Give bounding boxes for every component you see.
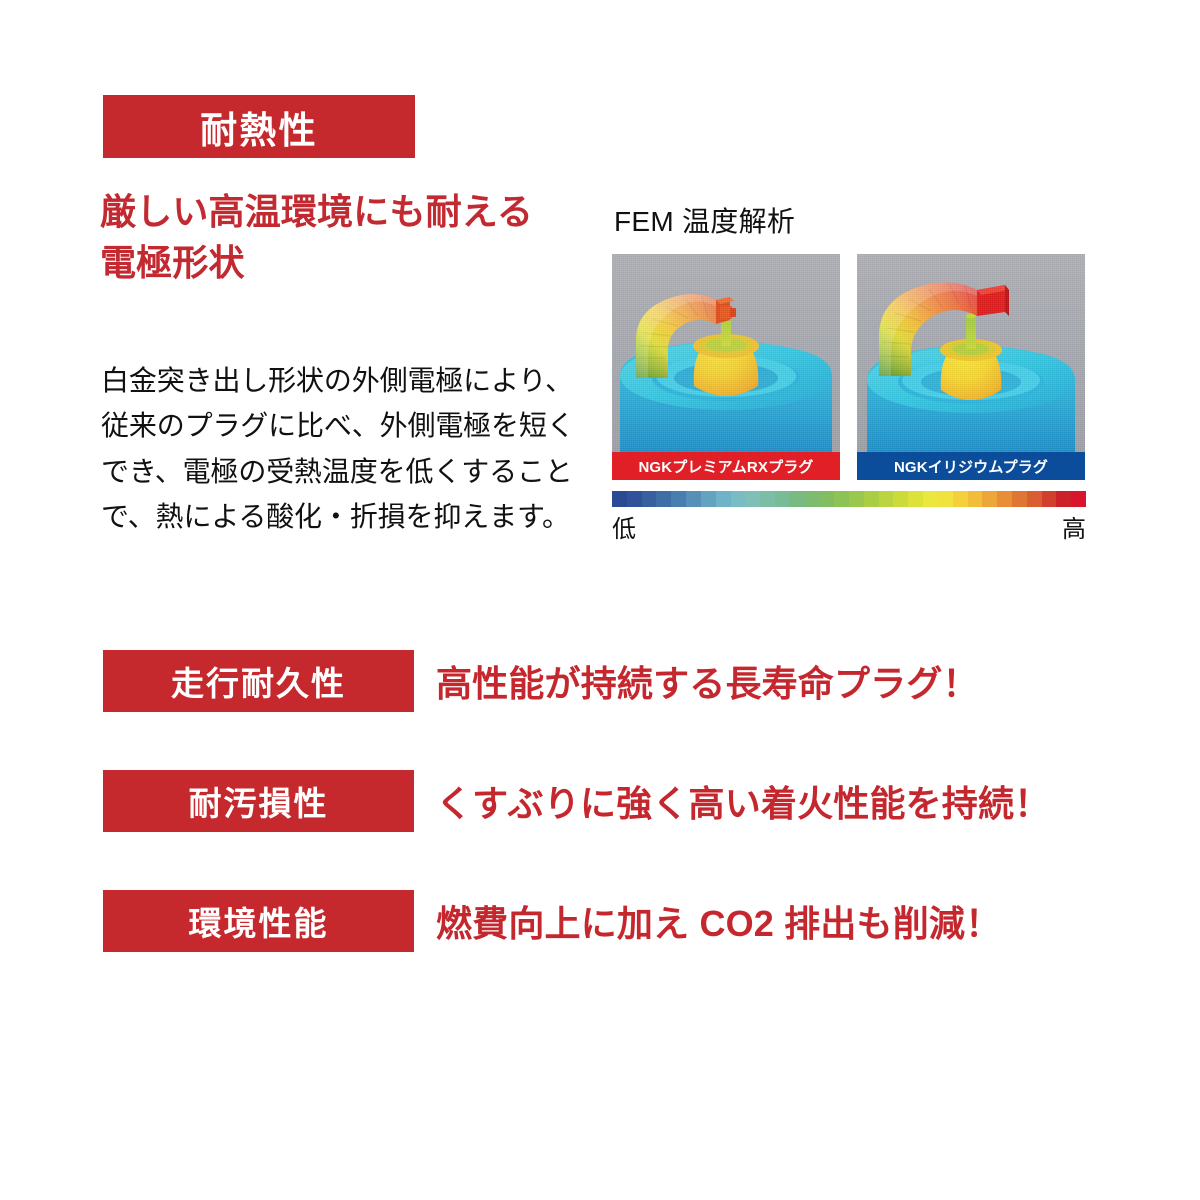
color-scale-band xyxy=(997,491,1012,507)
fem-caption-iridium: NGKイリジウムプラグ xyxy=(857,452,1085,480)
color-scale-band xyxy=(686,491,701,507)
color-scale-band xyxy=(731,491,746,507)
fem-image-pair: NGKプレミアムRXプラグ xyxy=(612,254,1086,480)
color-scale-band xyxy=(893,491,908,507)
color-scale-band xyxy=(656,491,671,507)
color-scale-band xyxy=(775,491,790,507)
color-scale-band xyxy=(1056,491,1071,507)
temperature-scale-labels: 低 高 xyxy=(612,509,1086,544)
color-scale-band xyxy=(1071,491,1086,507)
color-scale-band xyxy=(627,491,642,507)
temperature-color-bar xyxy=(612,491,1086,507)
color-scale-band xyxy=(1012,491,1027,507)
fem-card-iridium: NGKイリジウムプラグ xyxy=(857,254,1085,480)
section-badge-heat-resistance: 耐熱性 xyxy=(103,95,415,158)
color-scale-band xyxy=(671,491,686,507)
section-body-text: 白金突き出し形状の外側電極により、従来のプラグに比べ、外側電極を短くでき、電極の… xyxy=(101,358,583,539)
color-scale-band xyxy=(834,491,849,507)
color-scale-band xyxy=(701,491,716,507)
fem-thermal-render-iridium-svg xyxy=(857,254,1085,452)
fem-analysis-block: FEM 温度解析 xyxy=(612,200,1086,544)
color-scale-band xyxy=(1027,491,1042,507)
color-scale-band xyxy=(642,491,657,507)
color-scale-band xyxy=(953,491,968,507)
feature-description: くすぶりに強く高い着火性能を持続！ xyxy=(436,775,1050,827)
color-scale-band xyxy=(968,491,983,507)
feature-description: 燃費向上に加え CO2 排出も削減！ xyxy=(436,895,1001,947)
color-scale-band xyxy=(716,491,731,507)
fem-caption-premium-rx: NGKプレミアムRXプラグ xyxy=(612,452,840,480)
fem-card-premium-rx: NGKプレミアムRXプラグ xyxy=(612,254,840,480)
color-scale-band xyxy=(805,491,820,507)
scale-label-low: 低 xyxy=(612,509,636,544)
feature-badge: 耐汚損性 xyxy=(103,770,414,832)
color-scale-band xyxy=(938,491,953,507)
section-badge-label: 耐熱性 xyxy=(200,100,318,154)
section-headline: 厳しい高温環境にも耐える 電極形状 xyxy=(100,186,570,288)
color-scale-band xyxy=(819,491,834,507)
color-scale-band xyxy=(849,491,864,507)
section-headline-text: 厳しい高温環境にも耐える 電極形状 xyxy=(100,191,533,283)
feature-description: 高性能が持続する長寿命プラグ！ xyxy=(436,655,979,707)
feature-page: 耐熱性 厳しい高温環境にも耐える 電極形状 白金突き出し形状の外側電極により、従… xyxy=(0,0,1200,1200)
feature-badge-label: 環境性能 xyxy=(189,897,329,945)
color-scale-band xyxy=(879,491,894,507)
color-scale-band xyxy=(760,491,775,507)
fem-render-premium-rx xyxy=(612,254,840,452)
color-scale-band xyxy=(612,491,627,507)
fem-thermal-render-rx-svg xyxy=(612,254,840,452)
color-scale-band xyxy=(982,491,997,507)
color-scale-band xyxy=(1042,491,1057,507)
color-scale-band xyxy=(745,491,760,507)
fem-caption-label: NGKイリジウムプラグ xyxy=(894,456,1048,477)
color-scale-band xyxy=(908,491,923,507)
fem-analysis-title: FEM 温度解析 xyxy=(614,200,1086,240)
feature-badge-label: 耐汚損性 xyxy=(189,777,329,825)
feature-row-fouling-resistance: 耐汚損性 くすぶりに強く高い着火性能を持続！ xyxy=(103,770,1050,832)
fem-render-iridium xyxy=(857,254,1085,452)
color-scale-band xyxy=(864,491,879,507)
scale-label-high: 高 xyxy=(1062,509,1086,544)
feature-row-driving-durability: 走行耐久性 高性能が持続する長寿命プラグ！ xyxy=(103,650,979,712)
color-scale-band xyxy=(923,491,938,507)
feature-badge-label: 走行耐久性 xyxy=(171,657,346,705)
feature-row-environmental-performance: 環境性能 燃費向上に加え CO2 排出も削減！ xyxy=(103,890,1001,952)
fem-caption-label: NGKプレミアムRXプラグ xyxy=(638,456,813,477)
temperature-color-scale: 低 高 xyxy=(612,491,1086,544)
feature-badge: 走行耐久性 xyxy=(103,650,414,712)
feature-badge: 環境性能 xyxy=(103,890,414,952)
color-scale-band xyxy=(790,491,805,507)
